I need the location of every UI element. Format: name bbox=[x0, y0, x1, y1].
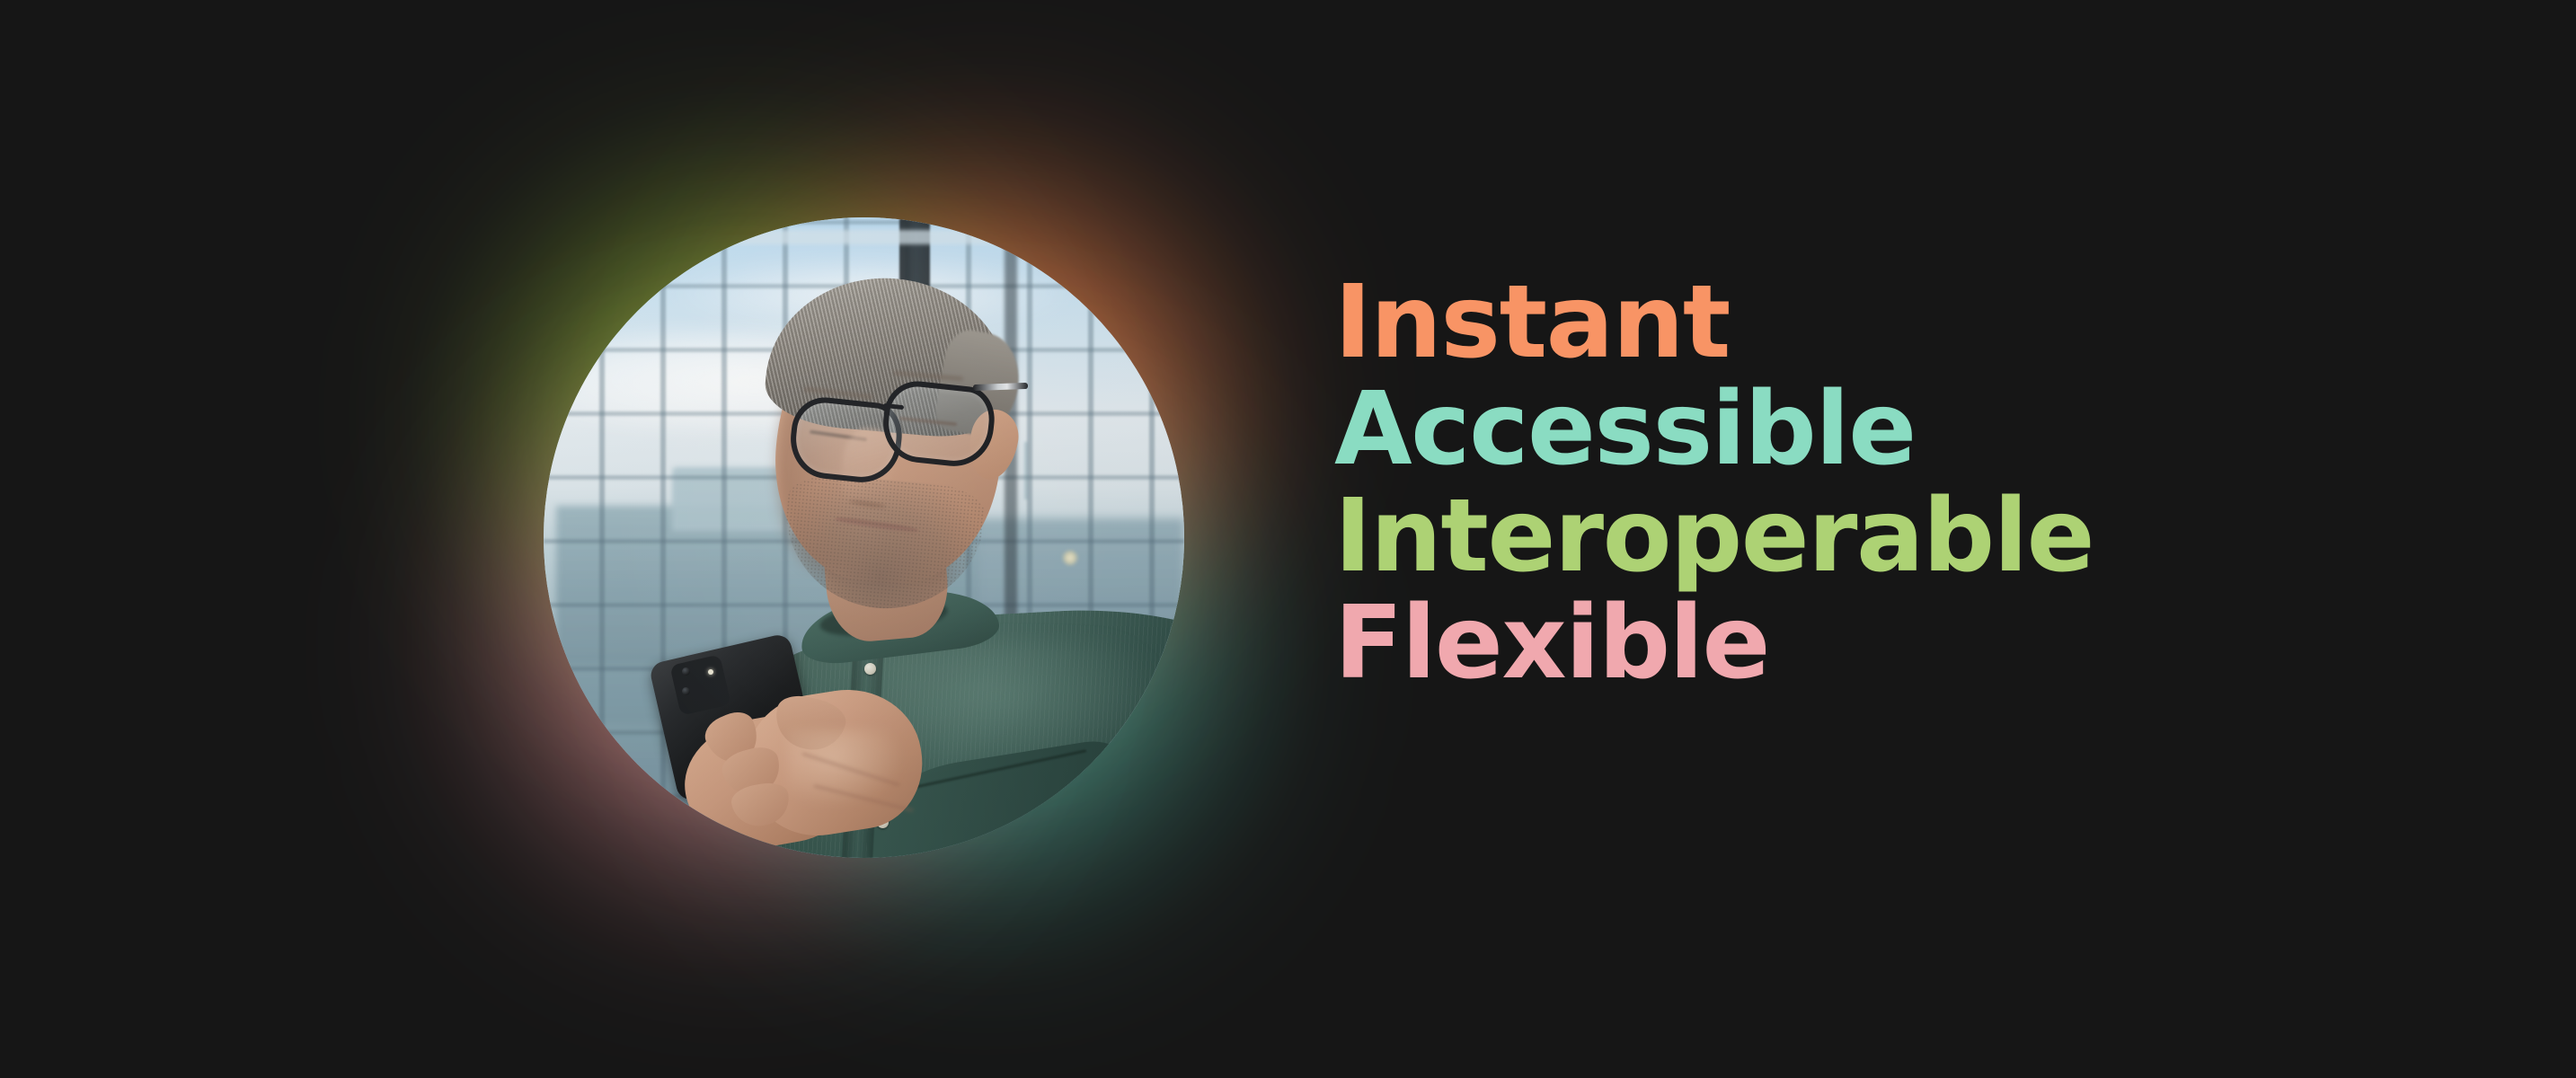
hero-circular-photo bbox=[544, 217, 1184, 858]
hero-word-interoperable: Interoperable bbox=[1334, 483, 2233, 590]
person-figure bbox=[544, 217, 1184, 858]
hero-word-flexible: Flexible bbox=[1334, 590, 2233, 697]
hero-banner: Instant Accessible Interoperable Flexibl… bbox=[0, 0, 2576, 1078]
photo-content bbox=[544, 217, 1184, 858]
phone-camera-lens-bottom bbox=[682, 687, 690, 695]
phone-camera-lens-top bbox=[682, 667, 690, 676]
hero-word-instant: Instant bbox=[1334, 269, 2233, 376]
hero-word-accessible: Accessible bbox=[1334, 376, 2233, 483]
hero-word-list: Instant Accessible Interoperable Flexibl… bbox=[1334, 269, 2233, 697]
phone-camera-flash bbox=[708, 669, 713, 675]
eyeglass-temple-arm bbox=[973, 383, 1028, 391]
